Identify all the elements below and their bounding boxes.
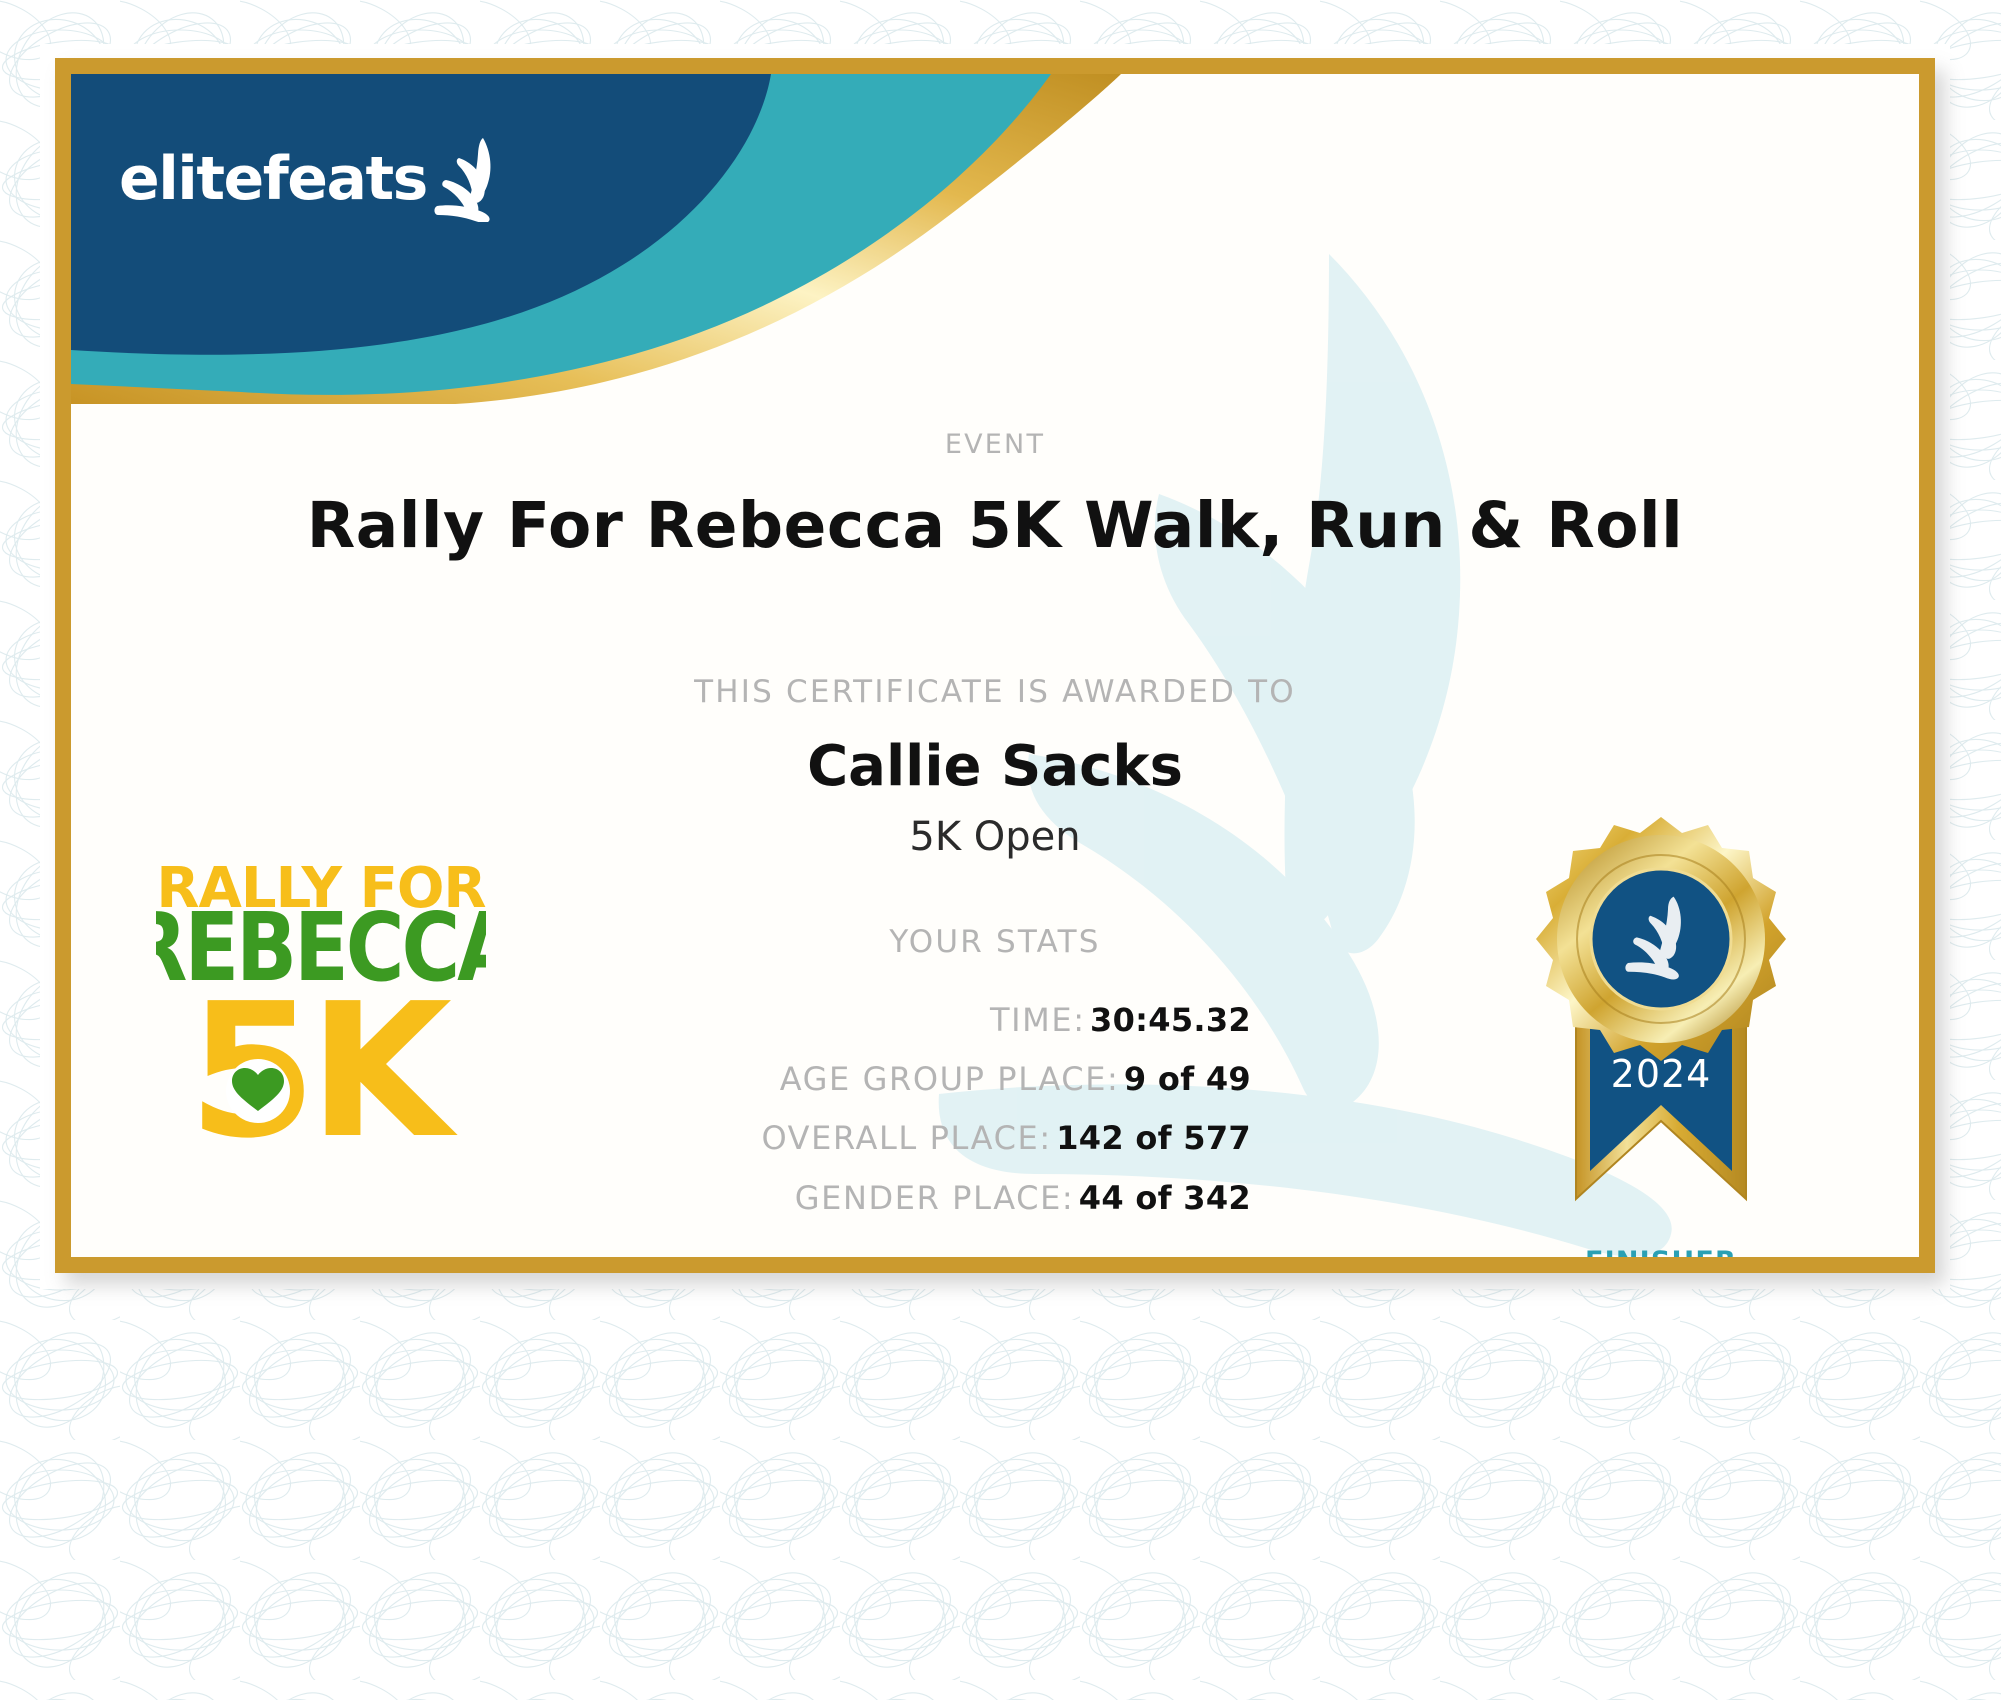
medal-caption: FINISHER CERTIFICATE <box>1486 1246 1836 1257</box>
awarded-to-label: THIS CERTIFICATE IS AWARDED TO <box>71 674 1919 710</box>
medal-caption-line1: FINISHER <box>1486 1246 1836 1257</box>
stat-value: 44 of 342 <box>1079 1179 1251 1217</box>
certificate-content: EVENT Rally For Rebecca 5K Walk, Run & R… <box>71 74 1919 1257</box>
certificate-page: elitefeats EVENT Rally For Rebecca 5K Wa… <box>0 0 2001 1700</box>
certificate-frame: elitefeats EVENT Rally For Rebecca 5K Wa… <box>55 58 1935 1273</box>
brand-logo: elitefeats <box>119 136 507 222</box>
stat-row-overall-place: OVERALL PLACE: 142 of 577 <box>371 1117 1251 1160</box>
stat-row-gender-place: GENDER PLACE: 44 of 342 <box>371 1177 1251 1220</box>
stat-key: GENDER PLACE: <box>795 1179 1075 1217</box>
race-logo: RALLY FOR REBECCA 5K <box>156 849 486 1149</box>
race-logo-line3: 5K <box>188 963 458 1149</box>
brand-name: elitefeats <box>119 149 427 209</box>
stat-key: AGE GROUP PLACE: <box>780 1060 1120 1098</box>
medal-graphic: 2024 <box>1486 799 1836 1239</box>
stat-key: OVERALL PLACE: <box>761 1119 1051 1157</box>
finisher-medal: 2024 <box>1486 799 1836 1257</box>
stat-value: 142 of 577 <box>1056 1119 1251 1157</box>
recipient-name: Callie Sacks <box>71 734 1919 799</box>
stat-row-age-group-place: AGE GROUP PLACE: 9 of 49 <box>371 1058 1251 1101</box>
event-label: EVENT <box>71 429 1919 460</box>
certificate-body: elitefeats EVENT Rally For Rebecca 5K Wa… <box>71 74 1919 1257</box>
stats-list: TIME: 30:45.32 AGE GROUP PLACE: 9 of 49 … <box>371 999 1251 1236</box>
stat-value: 9 of 49 <box>1124 1060 1251 1098</box>
event-title: Rally For Rebecca 5K Walk, Run & Roll <box>71 489 1919 562</box>
stat-key: TIME: <box>990 1001 1086 1039</box>
stat-row-time: TIME: 30:45.32 <box>371 999 1251 1042</box>
winged-foot-icon <box>433 136 507 222</box>
stat-value: 30:45.32 <box>1090 1001 1251 1039</box>
